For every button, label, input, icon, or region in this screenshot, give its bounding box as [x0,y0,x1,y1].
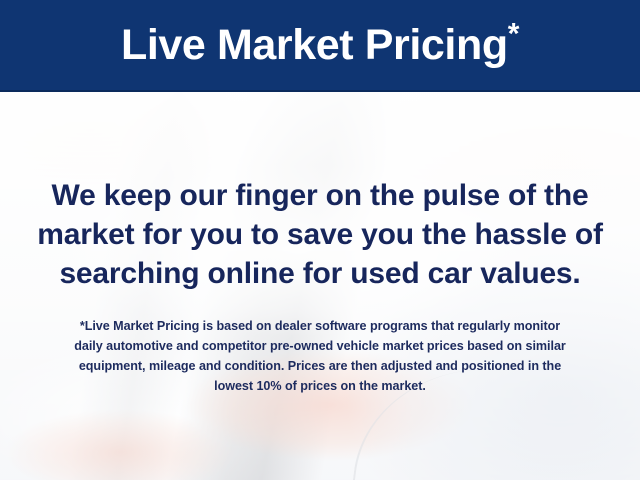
disclaimer-line-1: *Live Market Pricing is based on dealer … [30,316,610,336]
headline-line-3: searching online for used car values. [26,254,614,293]
header-banner: Live Market Pricing* [0,0,640,92]
headline-line-2: market for you to save you the hassle of [26,215,614,254]
live-market-pricing-promo: Live Market Pricing* We keep our finger … [0,0,640,480]
headline: We keep our finger on the pulse of the m… [26,176,614,293]
disclaimer-line-2: daily automotive and competitor pre-owne… [30,336,610,356]
disclaimer-text: *Live Market Pricing is based on dealer … [30,316,610,396]
headline-line-1: We keep our finger on the pulse of the [26,176,614,215]
content-area: We keep our finger on the pulse of the m… [0,92,640,480]
disclaimer-line-4: lowest 10% of prices on the market. [30,376,610,396]
disclaimer-line-3: equipment, mileage and condition. Prices… [30,356,610,376]
page-title-text: Live Market Pricing [121,21,508,69]
page-title-asterisk: * [508,17,519,50]
page-title: Live Market Pricing* [121,24,519,67]
